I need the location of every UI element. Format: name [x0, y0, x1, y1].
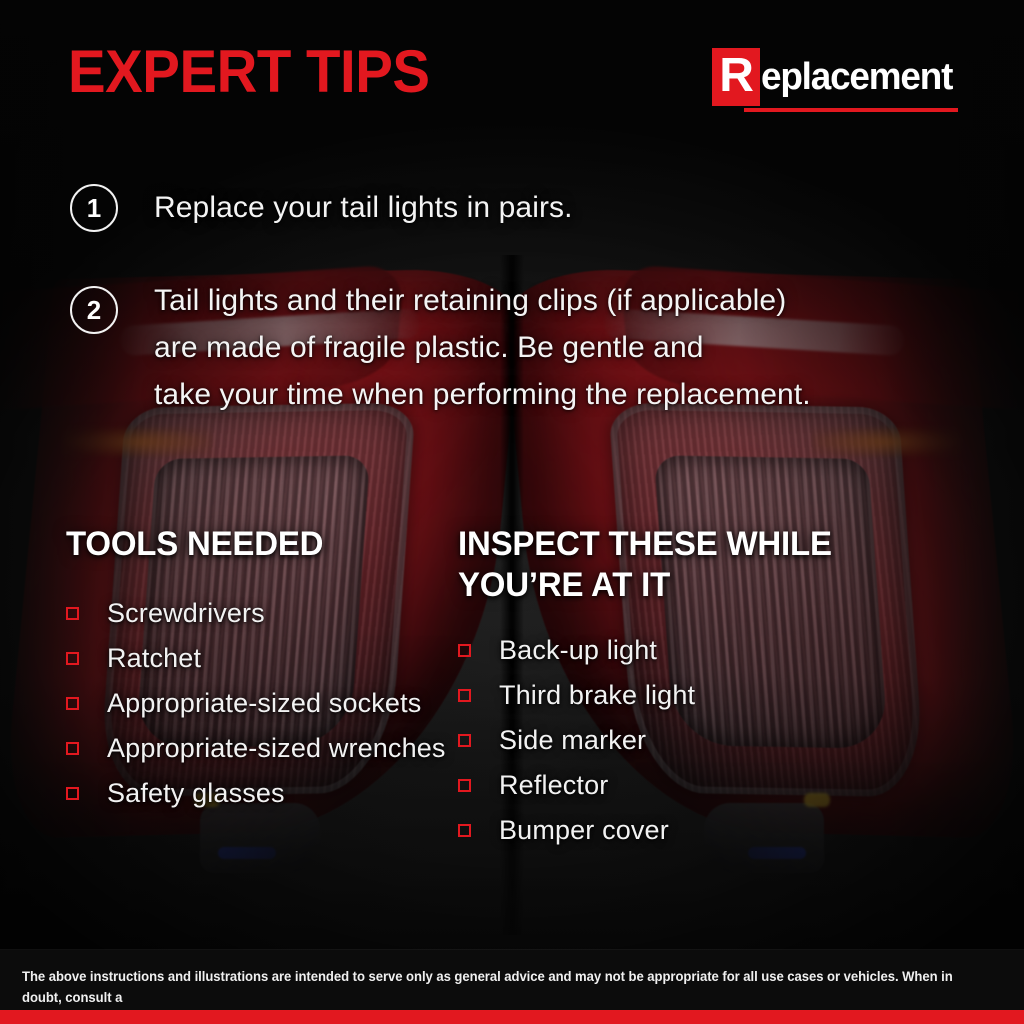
tip-text: Tail lights and their retaining clips (i…	[154, 277, 811, 418]
list-item[interactable]: Appropriate-sized wrenches	[66, 726, 466, 771]
list-item[interactable]: Ratchet	[66, 636, 466, 681]
tip-line: Replace your tail lights in pairs.	[154, 184, 573, 231]
tip-text: Replace your tail lights in pairs.	[154, 184, 573, 231]
expert-tips-infographic: EXPERT TIPS R eplacement 1 Replace your …	[0, 0, 1024, 1024]
checkbox-icon[interactable]	[66, 652, 79, 665]
checkbox-icon[interactable]	[66, 787, 79, 800]
header: EXPERT TIPS R eplacement	[0, 0, 1024, 140]
list-item-label: Appropriate-sized sockets	[107, 690, 421, 717]
tools-needed-heading: TOOLS NEEDED	[66, 524, 454, 565]
list-item-label: Back-up light	[499, 637, 657, 664]
list-item[interactable]: Appropriate-sized sockets	[66, 681, 466, 726]
inspect-these-heading: INSPECT THESE WHILE YOU’RE AT IT	[458, 524, 865, 606]
tip-number-badge: 2	[70, 286, 118, 334]
checkbox-icon[interactable]	[66, 607, 79, 620]
logo-wordmark: R eplacement	[712, 48, 958, 106]
checkbox-icon[interactable]	[66, 742, 79, 755]
checkbox-icon[interactable]	[458, 734, 471, 747]
tip-line: are made of fragile plastic. Be gentle a…	[154, 324, 811, 371]
list-item[interactable]: Reflector	[458, 763, 878, 808]
checkbox-icon[interactable]	[66, 697, 79, 710]
logo-underline	[744, 108, 958, 112]
list-item[interactable]: Third brake light	[458, 673, 878, 718]
tools-needed-list: Screwdrivers Ratchet Appropriate-sized s…	[66, 591, 466, 816]
tip-line: take your time when performing the repla…	[154, 371, 811, 418]
logo-initial-badge: R	[712, 48, 760, 106]
tip-number-badge: 1	[70, 184, 118, 232]
tip-line: Tail lights and their retaining clips (i…	[154, 277, 811, 324]
list-item-label: Safety glasses	[107, 780, 285, 807]
checkbox-icon[interactable]	[458, 644, 471, 657]
inspect-these-column: INSPECT THESE WHILE YOU’RE AT IT Back-up…	[458, 524, 878, 853]
checkbox-icon[interactable]	[458, 824, 471, 837]
list-item[interactable]: Back-up light	[458, 628, 878, 673]
list-item-label: Third brake light	[499, 682, 695, 709]
tip-item-2: 2 Tail lights and their retaining clips …	[70, 286, 811, 418]
tools-needed-column: TOOLS NEEDED Screwdrivers Ratchet Approp…	[66, 524, 466, 816]
content-layer: EXPERT TIPS R eplacement 1 Replace your …	[0, 0, 1024, 1024]
inspect-these-list: Back-up light Third brake light Side mar…	[458, 628, 878, 853]
replacement-logo: R eplacement	[712, 48, 958, 112]
tip-item-1: 1 Replace your tail lights in pairs.	[70, 184, 573, 232]
list-item-label: Bumper cover	[499, 817, 669, 844]
list-item-label: Side marker	[499, 727, 646, 754]
footer-line: The above instructions and illustrations…	[22, 966, 973, 1008]
checkbox-icon[interactable]	[458, 779, 471, 792]
list-item[interactable]: Screwdrivers	[66, 591, 466, 636]
list-item[interactable]: Safety glasses	[66, 771, 466, 816]
footer-disclaimer: The above instructions and illustrations…	[0, 950, 1024, 1014]
checkbox-icon[interactable]	[458, 689, 471, 702]
logo-wordmark-text: eplacement	[761, 58, 952, 96]
list-item-label: Ratchet	[107, 645, 201, 672]
page-title: EXPERT TIPS	[68, 42, 430, 102]
list-item[interactable]: Side marker	[458, 718, 878, 763]
list-item-label: Reflector	[499, 772, 608, 799]
bottom-accent-bar	[0, 1010, 1024, 1024]
list-item-label: Screwdrivers	[107, 600, 265, 627]
list-item-label: Appropriate-sized wrenches	[107, 735, 446, 762]
list-item[interactable]: Bumper cover	[458, 808, 878, 853]
